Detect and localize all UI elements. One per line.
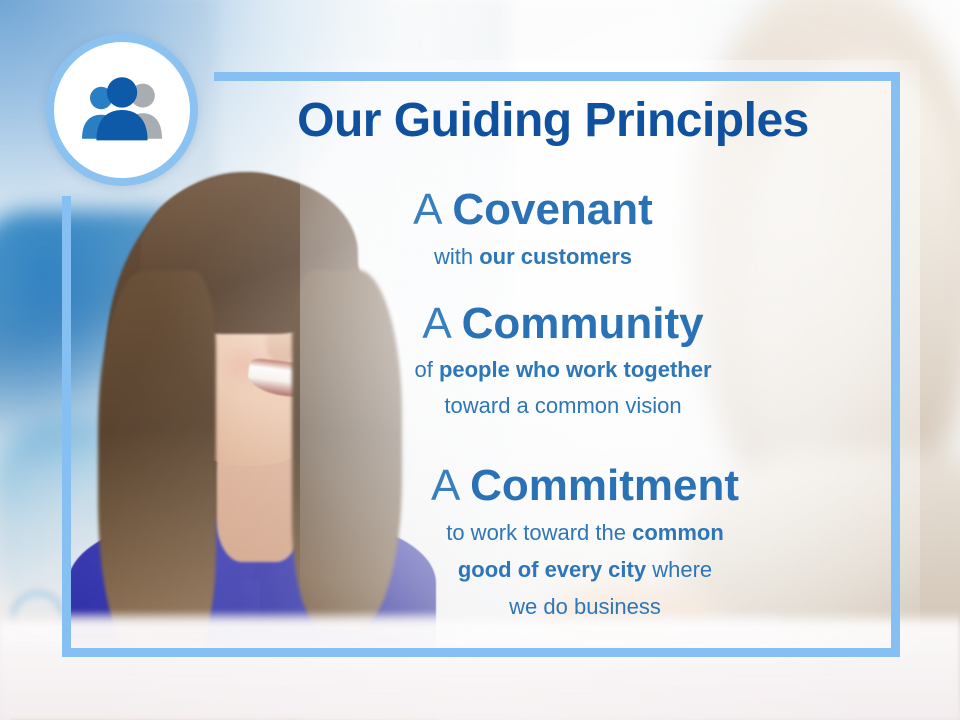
principle-covenant: A Covenant with our customers	[238, 186, 828, 271]
subline-part: with	[434, 244, 479, 269]
frame-border-top	[214, 72, 900, 81]
principle-subline-community-1: of people who work together	[268, 356, 858, 384]
subline-part-bold: good of every city	[458, 557, 646, 582]
principle-commitment: A Commitment to work toward the common g…	[290, 462, 880, 621]
keyword-community: Community	[462, 299, 704, 348]
article-covenant: A	[413, 185, 452, 234]
subline-part: to work toward the	[446, 520, 632, 545]
subline-part-bold: common	[632, 520, 724, 545]
principle-subline-commitment-1: to work toward the common	[290, 519, 880, 547]
principle-heading-community: A Community	[268, 300, 858, 348]
article-community: A	[422, 299, 461, 348]
frame-border-left	[62, 196, 71, 657]
subline-part-bold: people who work together	[439, 357, 712, 382]
desk-sheen	[0, 624, 960, 720]
subline-part: of	[414, 357, 438, 382]
people-group-icon	[74, 62, 170, 158]
keyword-covenant: Covenant	[452, 185, 652, 234]
frame-border-right	[891, 72, 900, 657]
principle-subline-commitment-3: we do business	[290, 593, 880, 621]
frame-border-bottom	[62, 648, 900, 657]
subline-part: where	[646, 557, 712, 582]
principle-community: A Community of people who work together …	[268, 300, 858, 420]
poster-root: FLOW FLOW	[0, 0, 960, 720]
page-title: Our Guiding Principles	[218, 96, 888, 146]
principle-subline-covenant-1: with our customers	[238, 243, 828, 271]
subline-part-bold: our customers	[479, 244, 632, 269]
keyword-commitment: Commitment	[470, 461, 739, 510]
article-commitment: A	[431, 461, 470, 510]
principle-subline-community-2: toward a common vision	[268, 392, 858, 420]
principle-heading-commitment: A Commitment	[290, 462, 880, 510]
guiding-principles-badge	[46, 34, 198, 186]
principle-heading-covenant: A Covenant	[238, 186, 828, 234]
principle-subline-commitment-2: good of every city where	[290, 556, 880, 584]
